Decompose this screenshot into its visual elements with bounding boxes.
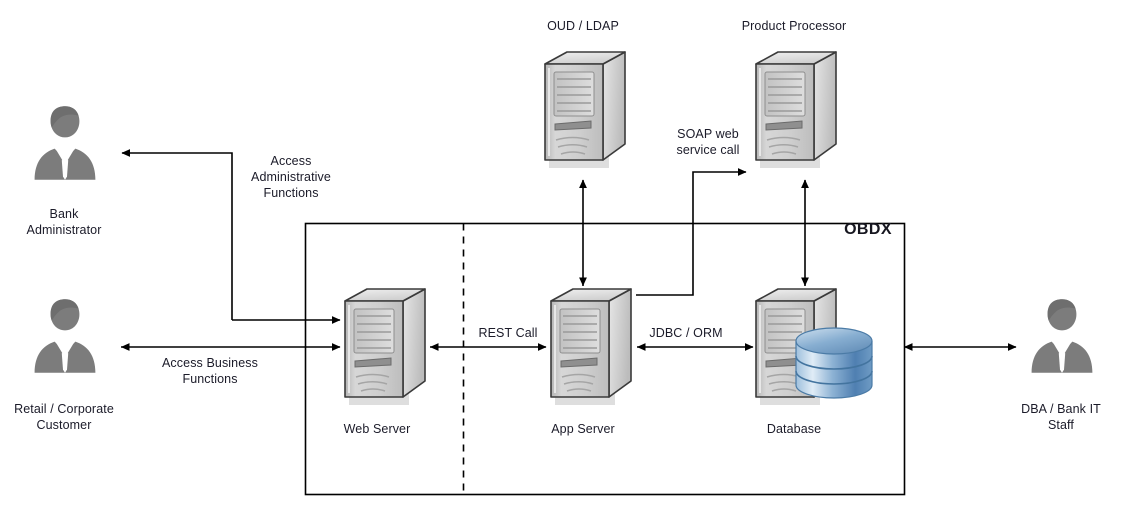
edge-label-jdbc-orm: JDBC / ORM: [632, 325, 740, 341]
obdx-boundary-label: OBDX: [833, 222, 903, 238]
server-tower-icon-oud-ldap: [545, 52, 625, 168]
edge-soap-web-service: [636, 172, 746, 295]
node-label-database: Database: [737, 421, 851, 437]
person-icon-dba-bank-it-staff: [1032, 299, 1093, 373]
node-label-app-server: App Server: [523, 421, 643, 437]
server-tower-icon-product-processor: [756, 52, 836, 168]
architecture-diagram: OBDX Bank Administrator Retail / Corpora…: [0, 0, 1126, 507]
server-tower-icon-app-server: [551, 289, 631, 405]
actor-label-bank-administrator: Bank Administrator: [4, 206, 124, 238]
server-database-icon-database: [756, 289, 872, 405]
node-label-product-processor: Product Processor: [714, 18, 874, 34]
node-label-oud-ldap: OUD / LDAP: [513, 18, 653, 34]
actor-label-dba-bank-it-staff: DBA / Bank IT Staff: [1000, 401, 1122, 433]
person-icon-retail-corporate-customer: [35, 299, 96, 373]
actor-label-retail-corporate-customer: Retail / Corporate Customer: [0, 401, 128, 433]
person-icon-bank-administrator: [35, 106, 96, 180]
edge-label-business-access: Access Business Functions: [148, 355, 272, 387]
edge-label-admin-access: Access Administrative Functions: [231, 153, 351, 201]
node-label-web-server: Web Server: [317, 421, 437, 437]
edge-label-rest-call: REST Call: [458, 325, 558, 341]
server-tower-icon-web-server: [345, 289, 425, 405]
edge-label-soap-web-service: SOAP web service call: [655, 126, 761, 158]
